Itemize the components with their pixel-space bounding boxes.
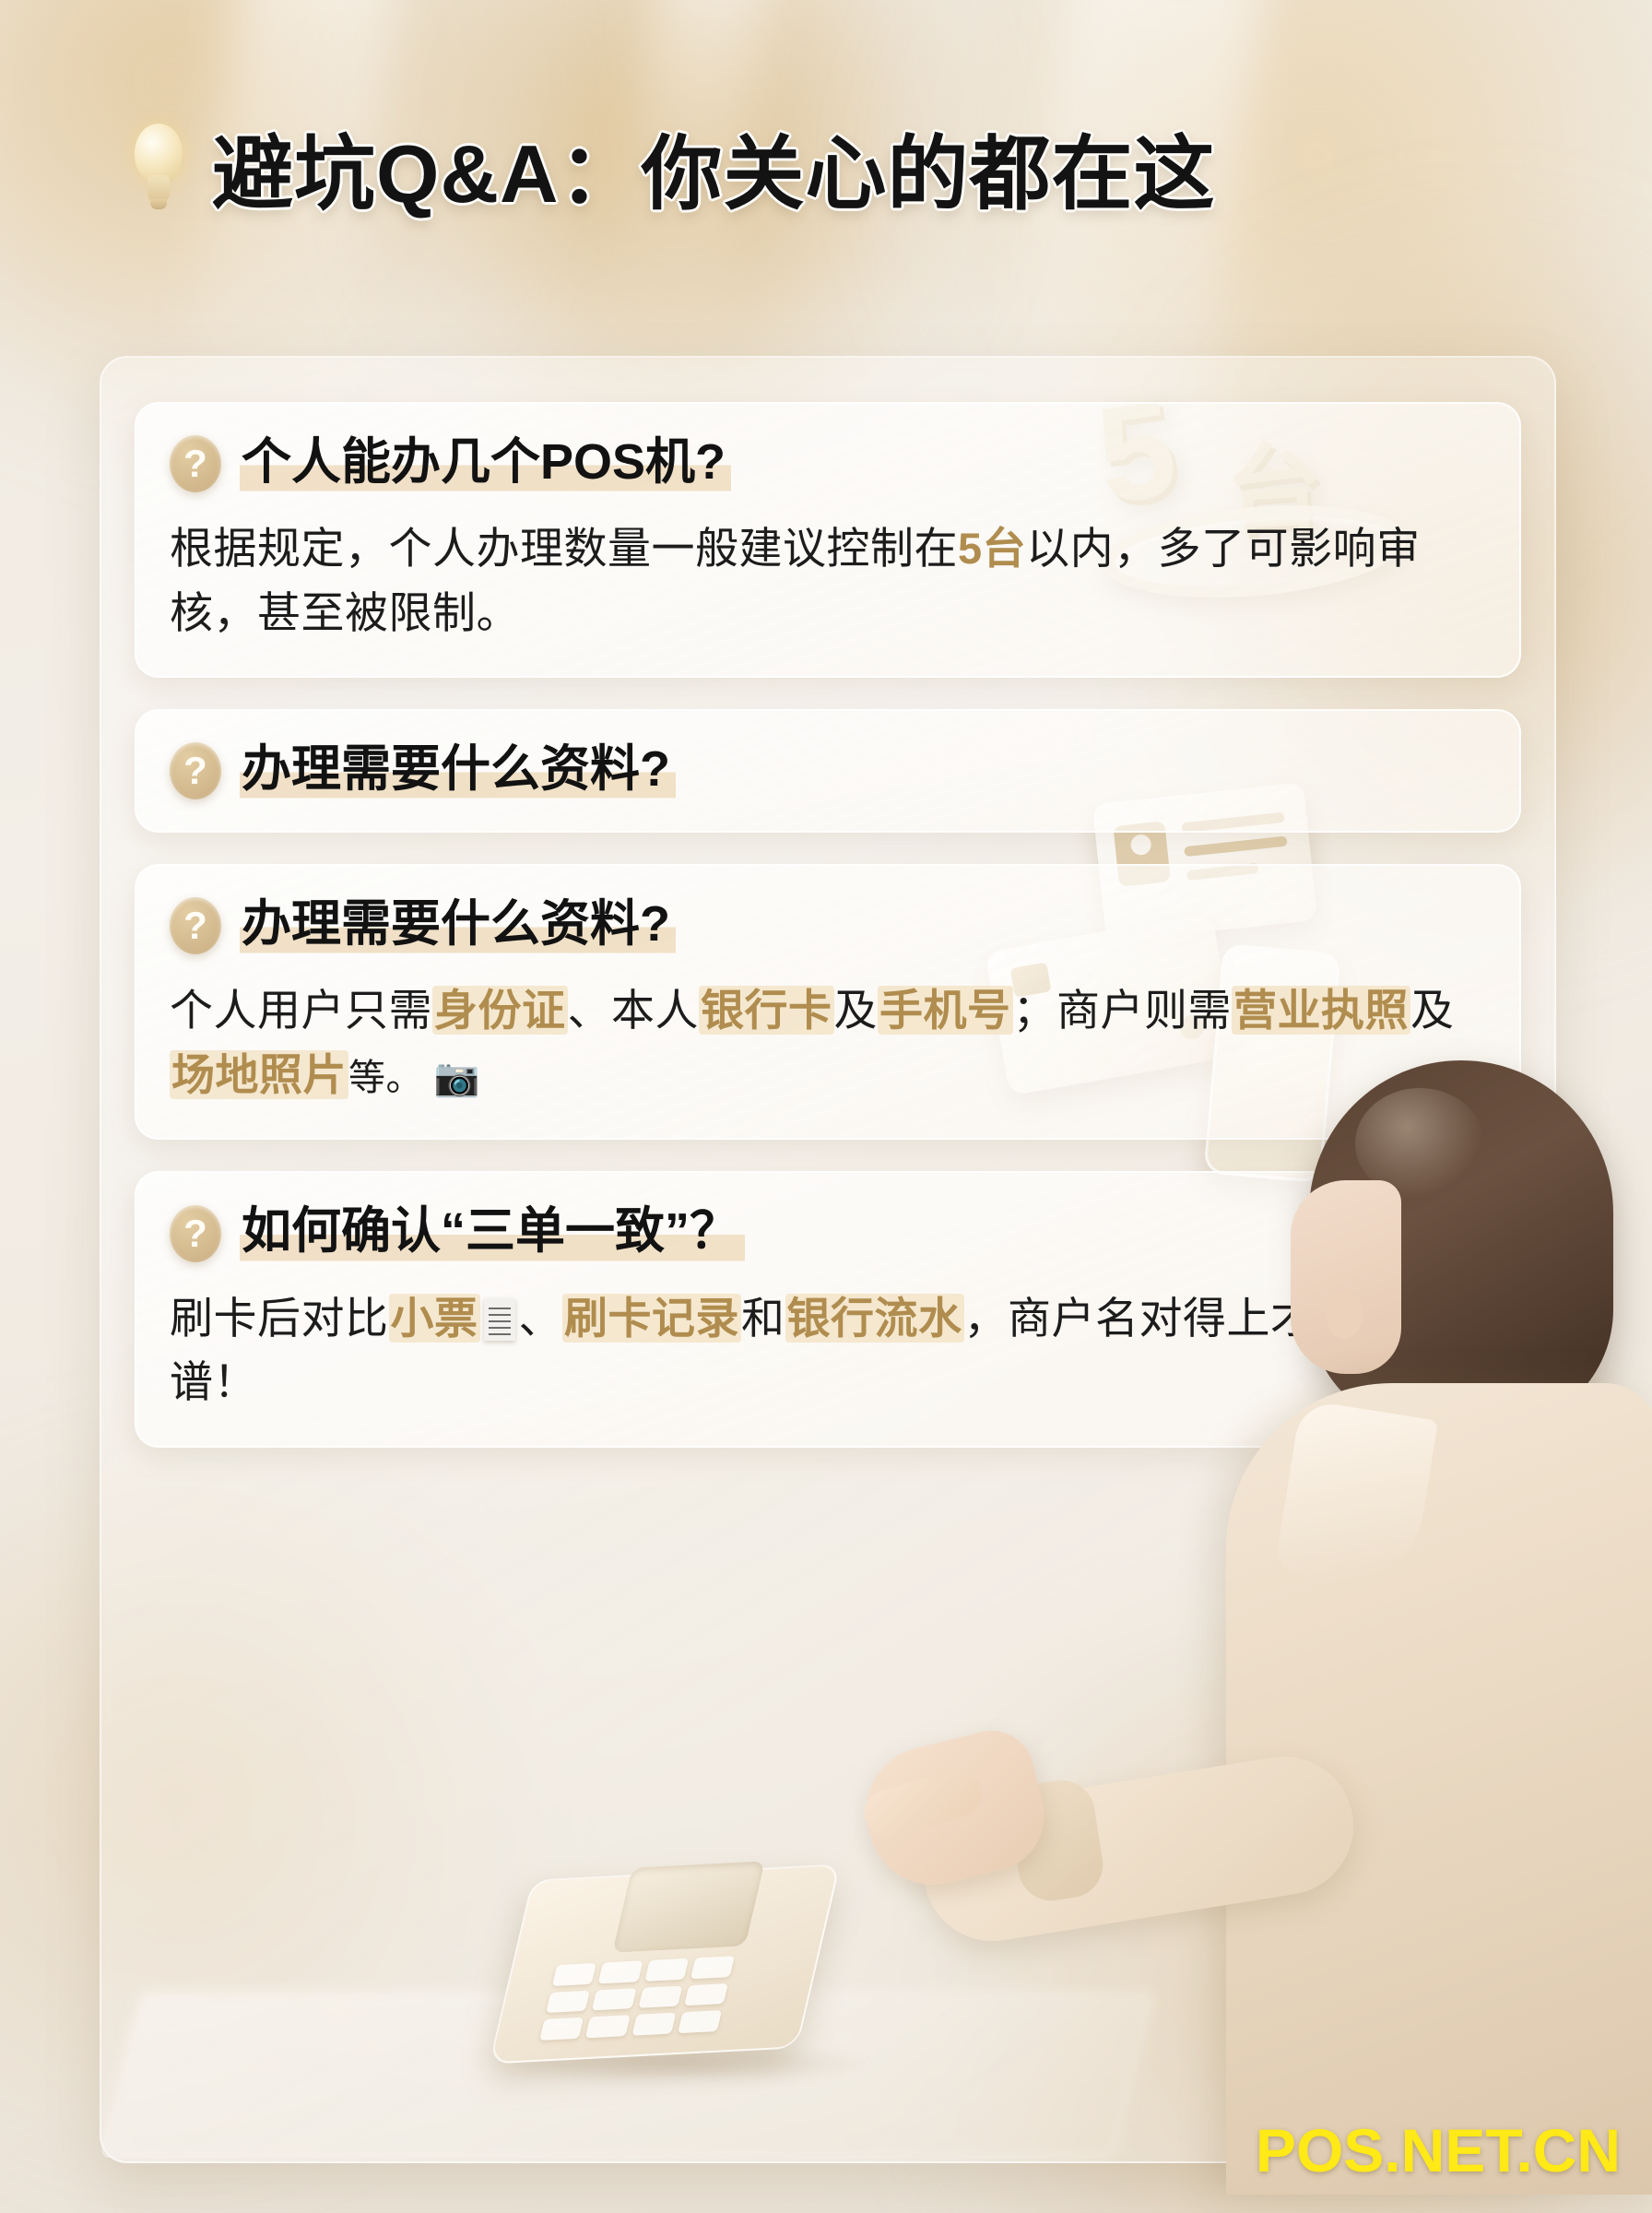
answer-segment: 和 [741,1294,785,1343]
answer-highlight: 小票 [389,1294,480,1343]
lightbulb-icon [129,124,188,212]
receipt-icon [484,1298,515,1341]
poster-root: 避坑Q&A：你关心的都在这 5 台 ? 个人能办几个POS机? 根据规定，个人办… [0,0,1652,2213]
question-text: 办理需要什么资料? [240,893,676,958]
question-row: ? 如何确认“三单一致”？ [170,1201,1486,1265]
answer-segment: 、本人 [568,986,700,1035]
question-mark-icon: ? [170,1205,221,1262]
page-title-row: 避坑Q&A：你关心的都在这 [129,109,1216,226]
question-row: ? 个人能办几个POS机? [170,432,1486,496]
page-title: 避坑Q&A：你关心的都在这 [212,109,1216,226]
qa-card[interactable]: ? 个人能办几个POS机? 根据规定，个人办理数量一般建议控制在5台以内，多了可… [135,402,1521,678]
question-mark-icon: ? [170,897,221,954]
question-mark-icon: ? [170,435,221,492]
answer-segment: 刷卡后对比 [170,1294,389,1343]
answer-text: 刷卡后对比小票、刷卡记录和银行流水，商户名对得上才是真靠谱！ [170,1286,1486,1414]
question-text: 如何确认“三单一致”？ [240,1201,745,1265]
answer-segment: ；商户则需 [1013,986,1233,1035]
question-row: ? 办理需要什么资料? [170,893,1486,958]
answer-highlight: 身份证 [432,986,568,1035]
qa-card-list: ? 个人能办几个POS机? 根据规定，个人办理数量一般建议控制在5台以内，多了可… [135,402,1521,1479]
answer-highlight: 银行卡 [699,986,834,1035]
qa-card[interactable]: ? 办理需要什么资料? [135,709,1521,833]
answer-highlight: 场地照片 [170,1050,348,1099]
answer-segment: 个人用户只需 [170,986,432,1035]
question-row: ? 办理需要什么资料? [170,739,1486,803]
question-text: 办理需要什么资料? [240,739,676,803]
answer-segment: 及 [834,986,879,1035]
qa-card[interactable]: ? 办理需要什么资料? 个人用户只需身份证、本人银行卡及手机号；商户则需营业执照… [135,864,1521,1140]
question-text: 个人能办几个POS机? [240,432,731,496]
camera-icon: 等。 📷 [348,1058,480,1098]
pos-keypad [539,1956,735,2041]
pos-screen [612,1861,764,1952]
answer-highlight: 营业执照 [1232,986,1410,1035]
question-mark-icon: ? [170,742,221,799]
answer-segment: 根据规定，个人办理数量一般建议控制在 [170,524,958,573]
answer-text: 根据规定，个人办理数量一般建议控制在5台以内，多了可影响审核，甚至被限制。 [170,516,1486,645]
answer-highlight: 银行流水 [785,1294,964,1343]
answer-text: 个人用户只需身份证、本人银行卡及手机号；商户则需营业执照及场地照片等。 📷 [170,978,1486,1106]
watermark: POS.NET.CN [1256,2115,1621,2185]
answer-highlight: 5台 [958,524,1026,573]
qa-card[interactable]: ? 如何确认“三单一致”？ 刷卡后对比小票、刷卡记录和银行流水，商户名对得上才是… [135,1171,1521,1447]
answer-highlight: 刷卡记录 [562,1294,741,1343]
answer-segment: 、 [519,1294,563,1343]
answer-highlight: 手机号 [878,986,1013,1035]
answer-segment: 及 [1410,986,1455,1035]
